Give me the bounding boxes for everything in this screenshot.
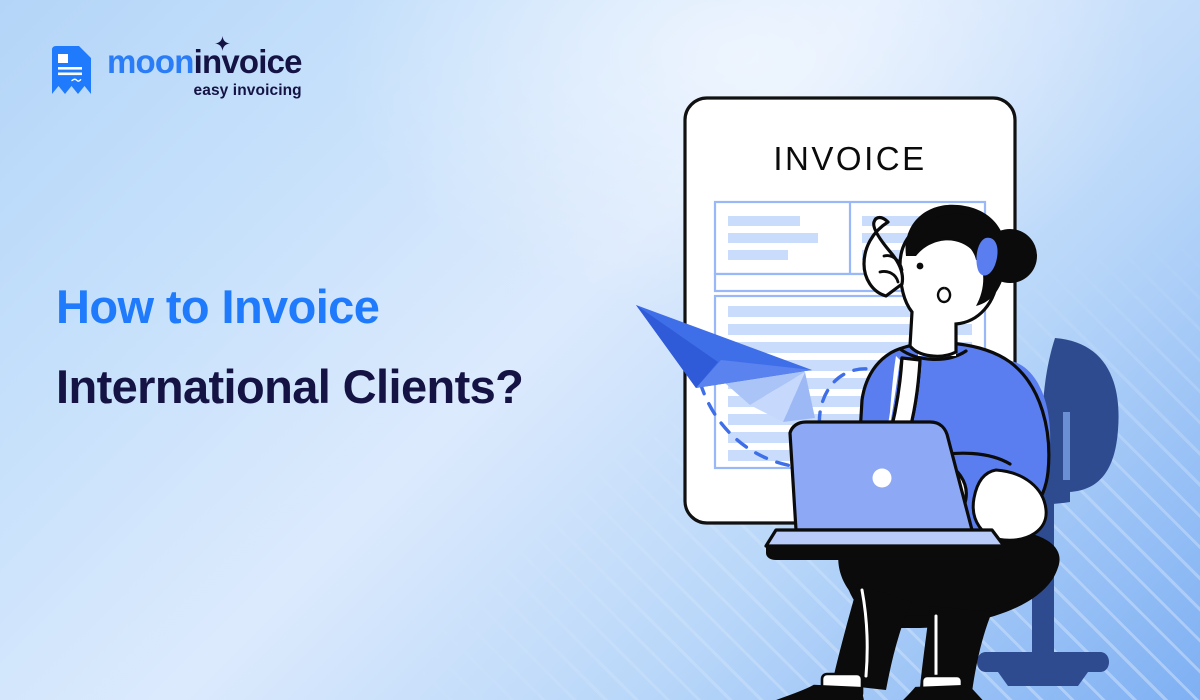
page-title: How to Invoice International Clients? [56, 283, 523, 410]
hero-illustration: INVOICE [600, 60, 1200, 700]
brand-logo[interactable]: mooninvoice easy invoicing [46, 44, 302, 100]
invoice-doc-title: INVOICE [773, 140, 926, 177]
logo-word-moon: moon [107, 43, 194, 80]
placeholder-bar [728, 250, 788, 260]
headline-line-1: How to Invoice [56, 283, 523, 330]
headline-line-2: International Clients? [56, 363, 523, 410]
illustration-svg: INVOICE [600, 60, 1200, 700]
laptop-logo-dot [873, 469, 892, 488]
logo-wordmark: mooninvoice [107, 45, 302, 78]
sneaker [749, 686, 866, 700]
sneaker [875, 686, 997, 700]
logo-tagline: easy invoicing [107, 83, 302, 99]
logo-word-invoice: invoice [194, 43, 302, 80]
invoice-document-icon [46, 44, 94, 100]
placeholder-bar [728, 233, 818, 243]
placeholder-bar [728, 216, 800, 226]
sparkle-star-icon [215, 36, 230, 51]
